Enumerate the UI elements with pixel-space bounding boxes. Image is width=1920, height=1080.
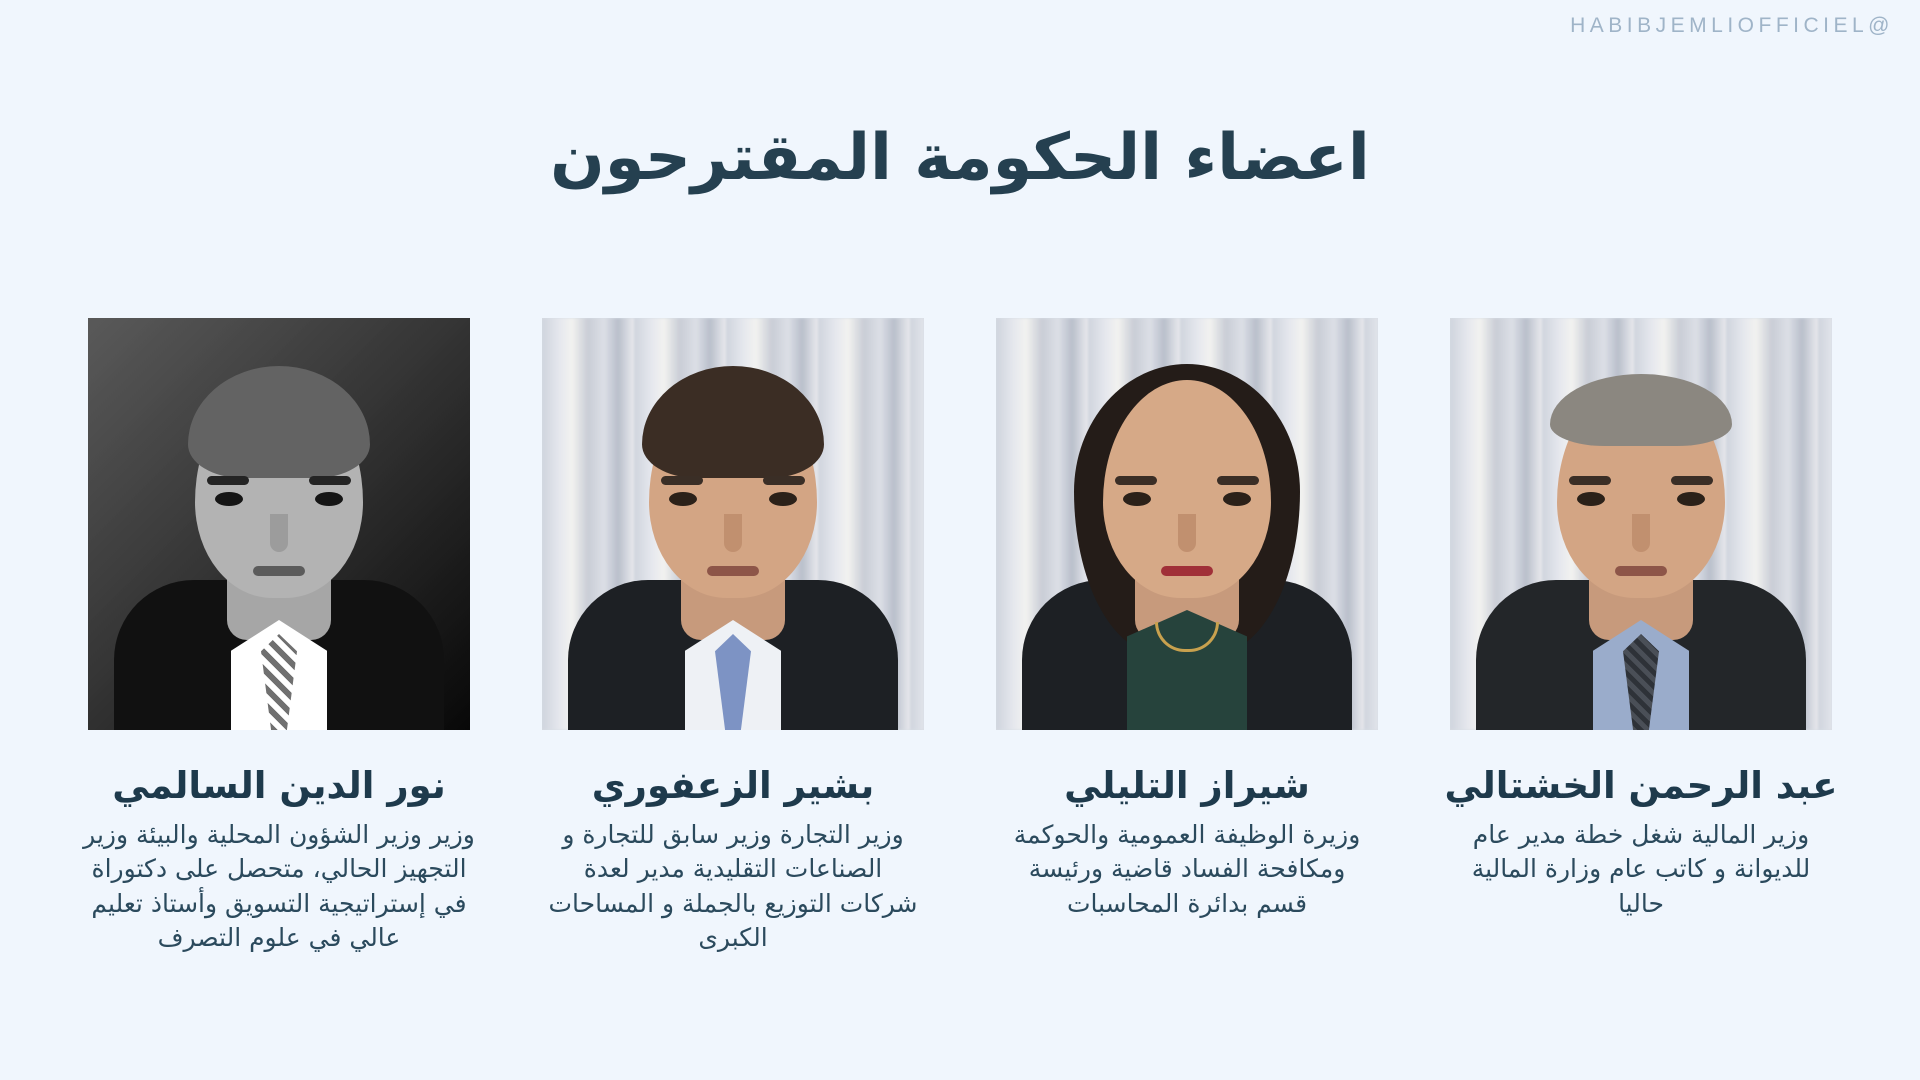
member-name: بشير الزعفوري xyxy=(523,764,943,808)
member-description: وزيرة الوظيفة العمومية والحوكمة ومكافحة … xyxy=(1002,818,1372,922)
eyebrow-left xyxy=(1115,476,1157,485)
member-card: بشير الزعفوري وزير التجارة وزير سابق للت… xyxy=(506,318,960,956)
eyebrow-right xyxy=(763,476,805,485)
member-photo-frame xyxy=(88,318,470,730)
member-description: وزير التجارة وزير سابق للتجارة و الصناعا… xyxy=(543,818,923,956)
mouth-shape xyxy=(1161,566,1213,576)
member-description: وزير المالية شغل خطة مدير عام للديوانة و… xyxy=(1446,818,1836,922)
nose-shape xyxy=(1632,514,1650,552)
eye-left xyxy=(669,492,697,506)
member-description: وزير وزير الشؤون المحلية والبيئة وزير ال… xyxy=(81,818,477,956)
member-photo xyxy=(542,318,924,730)
infographic-page: @HABIBJEMLIOFFICIEL اعضاء الحكومة المقتر… xyxy=(0,0,1920,1080)
page-title: اعضاء الحكومة المقترحون xyxy=(0,118,1920,198)
eye-left xyxy=(1577,492,1605,506)
eyebrow-left xyxy=(1569,476,1611,485)
mouth-shape xyxy=(1615,566,1667,576)
eye-left xyxy=(1123,492,1151,506)
member-name: شيراز التليلي xyxy=(977,764,1397,808)
eyebrow-right xyxy=(1671,476,1713,485)
eye-right xyxy=(769,492,797,506)
eye-left xyxy=(215,492,243,506)
member-card: شيراز التليلي وزيرة الوظيفة العمومية وال… xyxy=(960,318,1414,921)
eyebrow-left xyxy=(207,476,249,485)
member-photo-frame xyxy=(996,318,1378,730)
eye-right xyxy=(1677,492,1705,506)
member-photo-frame xyxy=(1450,318,1832,730)
member-name: عبد الرحمن الخشتالي xyxy=(1431,764,1851,808)
watermark-handle: @HABIBJEMLIOFFICIEL xyxy=(1570,14,1894,38)
member-photo xyxy=(996,318,1378,730)
nose-shape xyxy=(270,514,288,552)
eye-right xyxy=(1223,492,1251,506)
member-photo-frame xyxy=(542,318,924,730)
nose-shape xyxy=(1178,514,1196,552)
member-photo xyxy=(1450,318,1832,730)
member-photo xyxy=(88,318,470,730)
members-list: نور الدين السالمي وزير وزير الشؤون المحل… xyxy=(52,318,1868,956)
eyebrow-left xyxy=(661,476,703,485)
eyebrow-right xyxy=(1217,476,1259,485)
eye-right xyxy=(315,492,343,506)
member-card: نور الدين السالمي وزير وزير الشؤون المحل… xyxy=(52,318,506,956)
eyebrow-right xyxy=(309,476,351,485)
member-name: نور الدين السالمي xyxy=(69,764,489,808)
mouth-shape xyxy=(253,566,305,576)
member-card: عبد الرحمن الخشتالي وزير المالية شغل خطة… xyxy=(1414,318,1868,921)
nose-shape xyxy=(724,514,742,552)
mouth-shape xyxy=(707,566,759,576)
